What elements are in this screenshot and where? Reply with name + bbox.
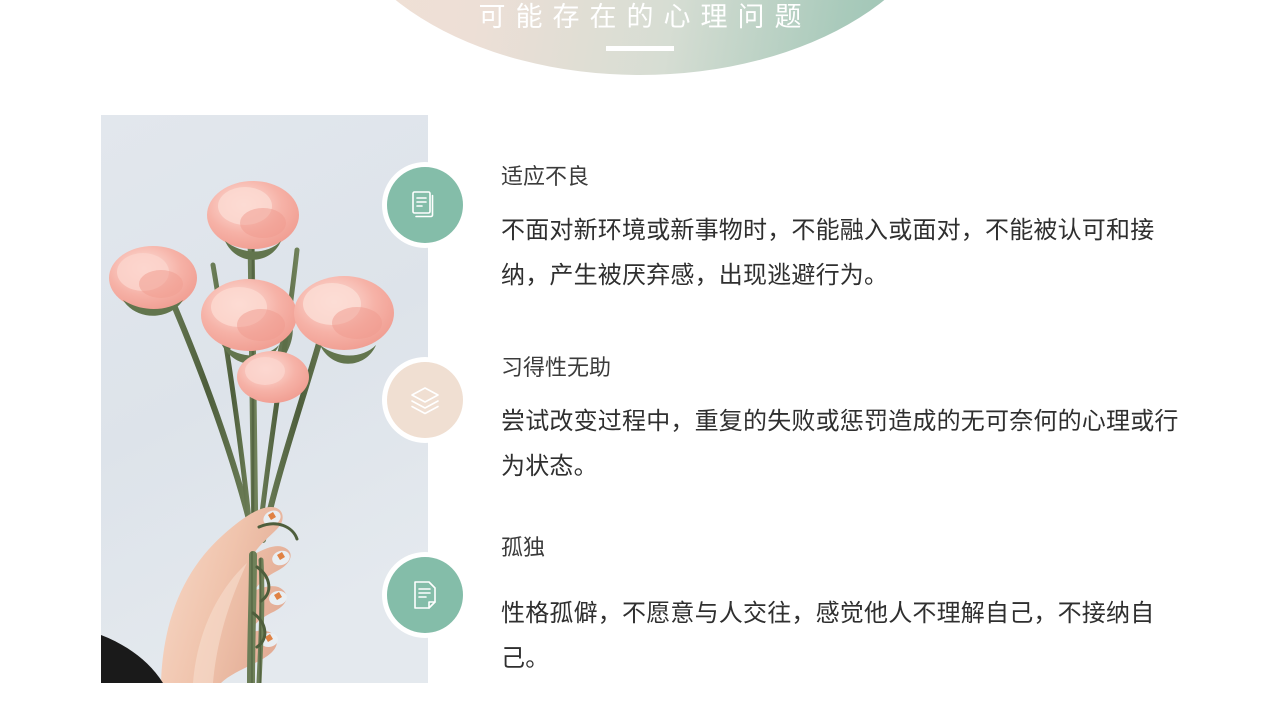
item-3-heading: 孤独 <box>501 533 1201 563</box>
item-2-heading: 习得性无助 <box>501 353 1201 383</box>
item-1-heading: 适应不良 <box>501 162 1201 192</box>
item-3-icon-circle[interactable] <box>387 557 463 633</box>
item-1-text-block: 适应不良 不面对新环境或新事物时，不能融入或面对，不能被认可和接纳，产生被厌弃感… <box>501 162 1201 298</box>
header-banner-content: 可能存在的心理问题 <box>330 0 950 75</box>
page-title: 可能存在的心理问题 <box>330 0 950 34</box>
header-banner: 可能存在的心理问题 <box>330 0 950 75</box>
item-2-text-block: 习得性无助 尝试改变过程中，重复的失败或惩罚造成的无可奈何的心理或行为状态。 <box>501 353 1201 489</box>
item-1-body: 不面对新环境或新事物时，不能融入或面对，不能被认可和接纳，产生被厌弃感，出现逃避… <box>501 208 1201 298</box>
document-folded-corner-icon <box>408 578 442 612</box>
item-3-body: 性格孤僻，不愿意与人交往，感觉他人不理解自己，不接纳自己。 <box>501 591 1201 681</box>
item-2-body: 尝试改变过程中，重复的失败或惩罚造成的无可奈何的心理或行为状态。 <box>501 399 1201 489</box>
item-2-icon-circle[interactable] <box>387 362 463 438</box>
carnations-photo-graphic <box>101 115 428 683</box>
item-1-icon-circle[interactable] <box>387 167 463 243</box>
title-underline <box>606 46 674 51</box>
documents-copy-icon <box>408 188 442 222</box>
layers-stack-icon <box>407 382 443 418</box>
item-3-text-block: 孤独 性格孤僻，不愿意与人交往，感觉他人不理解自己，不接纳自己。 <box>501 533 1201 681</box>
carnations-photo <box>101 115 428 683</box>
